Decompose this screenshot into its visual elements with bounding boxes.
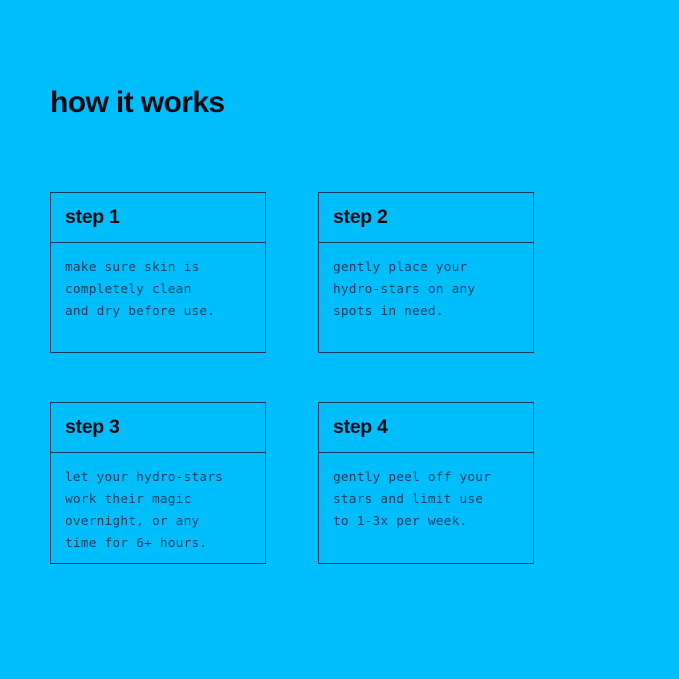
- step-card-2-header: step 2: [319, 193, 533, 243]
- step-card-3-header: step 3: [51, 403, 265, 453]
- step-card-1: step 1 make sure skin is completely clea…: [50, 192, 266, 353]
- step-card-2-body: gently place your hydro-stars on any spo…: [319, 243, 533, 333]
- how-it-works-page: how it works step 1 make sure skin is co…: [0, 0, 679, 679]
- step-card-1-text: make sure skin is completely clean and d…: [65, 257, 255, 323]
- step-card-3: step 3 let your hydro-stars work their m…: [50, 402, 266, 564]
- step-card-1-label: step 1: [65, 208, 120, 228]
- step-card-1-header: step 1: [51, 193, 265, 243]
- step-card-3-body: let your hydro-stars work their magic ov…: [51, 453, 265, 565]
- page-title: how it works: [50, 88, 225, 118]
- step-card-4-body: gently peel off your stars and limit use…: [319, 453, 533, 543]
- step-card-2-text: gently place your hydro-stars on any spo…: [333, 257, 523, 323]
- step-card-3-label: step 3: [65, 418, 120, 438]
- step-card-2: step 2 gently place your hydro-stars on …: [318, 192, 534, 353]
- step-card-4: step 4 gently peel off your stars and li…: [318, 402, 534, 564]
- step-card-4-text: gently peel off your stars and limit use…: [333, 467, 523, 533]
- step-card-4-header: step 4: [319, 403, 533, 453]
- step-card-4-label: step 4: [333, 418, 388, 438]
- step-card-2-label: step 2: [333, 208, 388, 228]
- step-card-1-body: make sure skin is completely clean and d…: [51, 243, 265, 333]
- step-card-3-text: let your hydro-stars work their magic ov…: [65, 467, 255, 555]
